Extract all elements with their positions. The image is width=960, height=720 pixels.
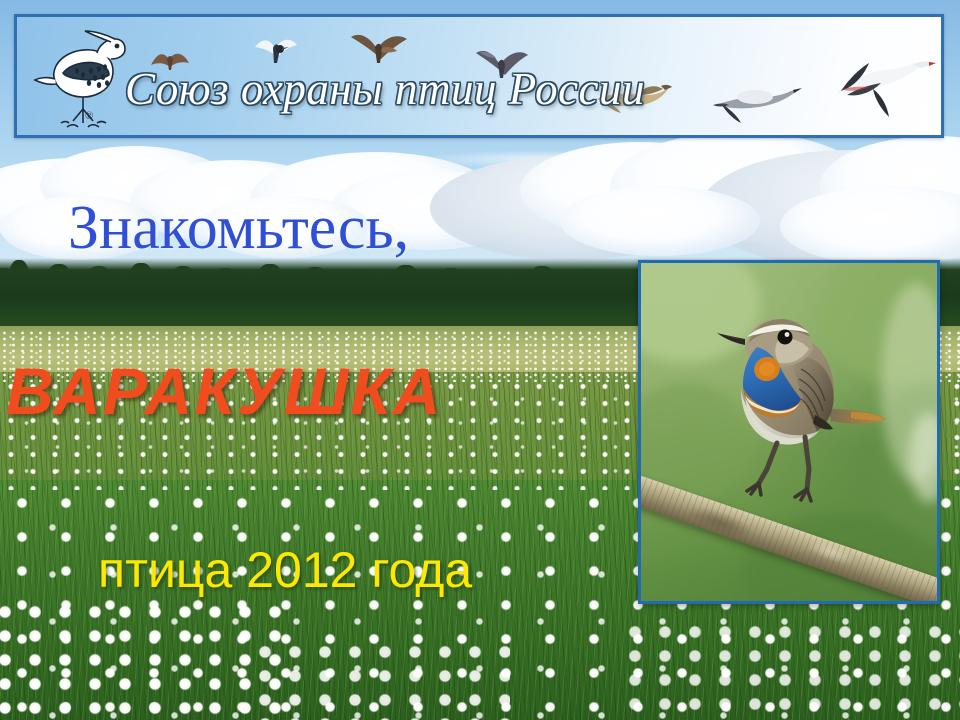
wader-bird-logo-icon: ® xyxy=(31,23,135,135)
registered-mark: ® xyxy=(85,110,93,122)
bird-eye xyxy=(778,330,793,345)
cumulus-cloud xyxy=(560,186,760,256)
bird-legs xyxy=(759,437,809,489)
organization-name: Союз охраны птиц России xyxy=(125,67,645,112)
daisy-clump xyxy=(0,600,290,720)
flying-crane-icon xyxy=(707,69,803,125)
organization-banner[interactable]: ® Союз охраны птиц России xyxy=(14,14,944,138)
bluethroat-bird xyxy=(701,291,901,521)
intro-heading: Знакомьтесь, xyxy=(68,196,409,260)
daisy-clump xyxy=(250,640,510,720)
subtitle-bird-of-the-year: птица 2012 года xyxy=(98,545,472,595)
flying-stork-icon xyxy=(817,39,937,125)
bluethroat-photo[interactable] xyxy=(638,260,940,604)
daisy-clump xyxy=(620,620,960,720)
bird-feet xyxy=(747,483,811,501)
presentation-slide: ® Союз охраны птиц России Знакомьтесь, В… xyxy=(0,0,960,720)
bird-name-heading: ВАРАКУШКА xyxy=(6,358,442,424)
